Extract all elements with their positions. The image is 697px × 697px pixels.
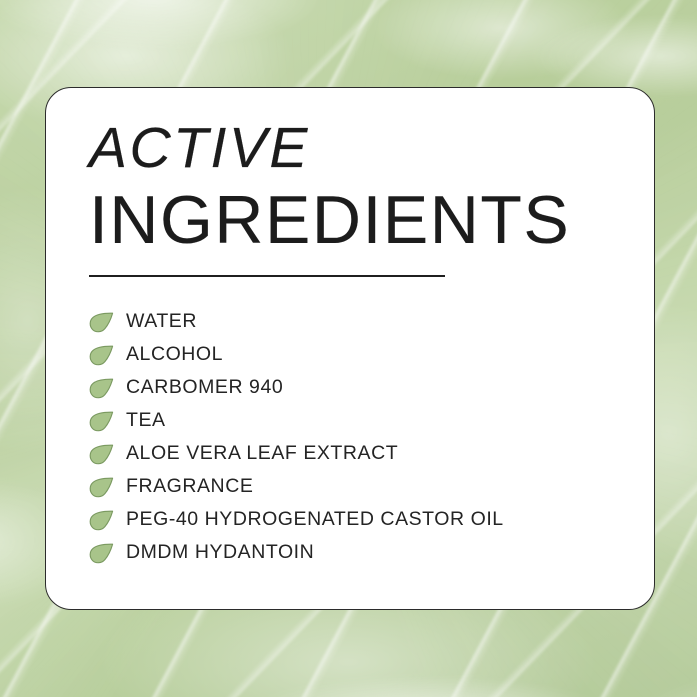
ingredient-label: TEA bbox=[126, 411, 166, 431]
ingredient-label: ALCOHOL bbox=[126, 345, 223, 365]
title-line-ingredients: INGREDIENTS bbox=[89, 186, 614, 254]
leaf-icon bbox=[89, 543, 114, 564]
ingredient-label: DMDM HYDANTOIN bbox=[126, 543, 314, 563]
leaf-icon bbox=[89, 444, 114, 465]
leaf-icon bbox=[89, 477, 114, 498]
list-item: PEG-40 HYDROGENATED CASTOR OIL bbox=[89, 504, 614, 537]
ingredient-label: PEG-40 HYDROGENATED CASTOR OIL bbox=[126, 510, 504, 530]
ingredient-label: FRAGRANCE bbox=[126, 477, 253, 497]
list-item: ALCOHOL bbox=[89, 339, 614, 372]
title-divider bbox=[89, 275, 445, 277]
page-title: ACTIVE INGREDIENTS bbox=[89, 120, 614, 254]
leaf-icon bbox=[89, 411, 114, 432]
list-item: CARBOMER 940 bbox=[89, 372, 614, 405]
list-item: FRAGRANCE bbox=[89, 471, 614, 504]
title-line-active: ACTIVE bbox=[89, 120, 614, 177]
ingredients-card: ACTIVE INGREDIENTS WATER ALCOHOL CARBOME… bbox=[45, 87, 655, 610]
leaf-icon bbox=[89, 312, 114, 333]
leaf-icon bbox=[89, 378, 114, 399]
list-item: TEA bbox=[89, 405, 614, 438]
leaf-icon bbox=[89, 510, 114, 531]
ingredient-list: WATER ALCOHOL CARBOMER 940 TEA ALOE VERA bbox=[89, 306, 614, 570]
leaf-icon bbox=[89, 345, 114, 366]
ingredient-label: CARBOMER 940 bbox=[126, 378, 283, 398]
list-item: ALOE VERA LEAF EXTRACT bbox=[89, 438, 614, 471]
list-item: DMDM HYDANTOIN bbox=[89, 537, 614, 570]
ingredient-label: ALOE VERA LEAF EXTRACT bbox=[126, 444, 398, 464]
ingredient-label: WATER bbox=[126, 312, 197, 332]
list-item: WATER bbox=[89, 306, 614, 339]
